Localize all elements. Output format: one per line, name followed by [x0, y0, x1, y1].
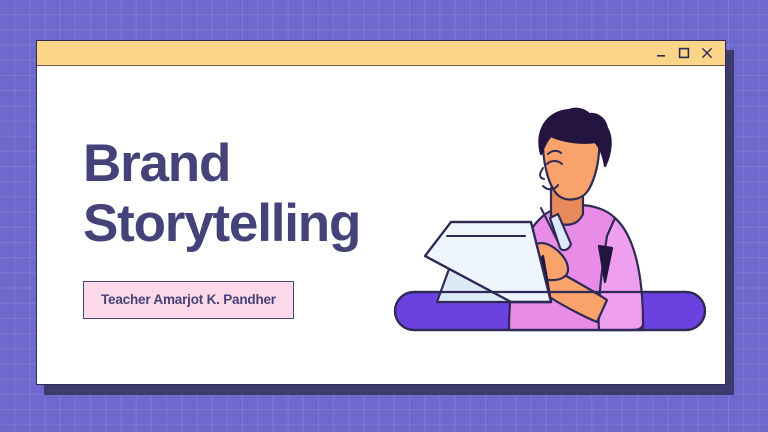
maximize-icon[interactable] [678, 47, 690, 59]
minimize-icon[interactable] [655, 47, 667, 59]
presenter-badge: Teacher Amarjot K. Pandher [83, 281, 294, 319]
window-titlebar[interactable] [37, 41, 725, 66]
slide-window: Brand Storytelling Teacher Amarjot K. Pa… [36, 40, 726, 385]
slide-content-area: Brand Storytelling Teacher Amarjot K. Pa… [37, 66, 725, 384]
person-drawing-on-tablet-illustration [391, 96, 721, 346]
close-icon[interactable] [701, 47, 713, 59]
presenter-name-label: Teacher Amarjot K. Pandher [101, 292, 276, 307]
